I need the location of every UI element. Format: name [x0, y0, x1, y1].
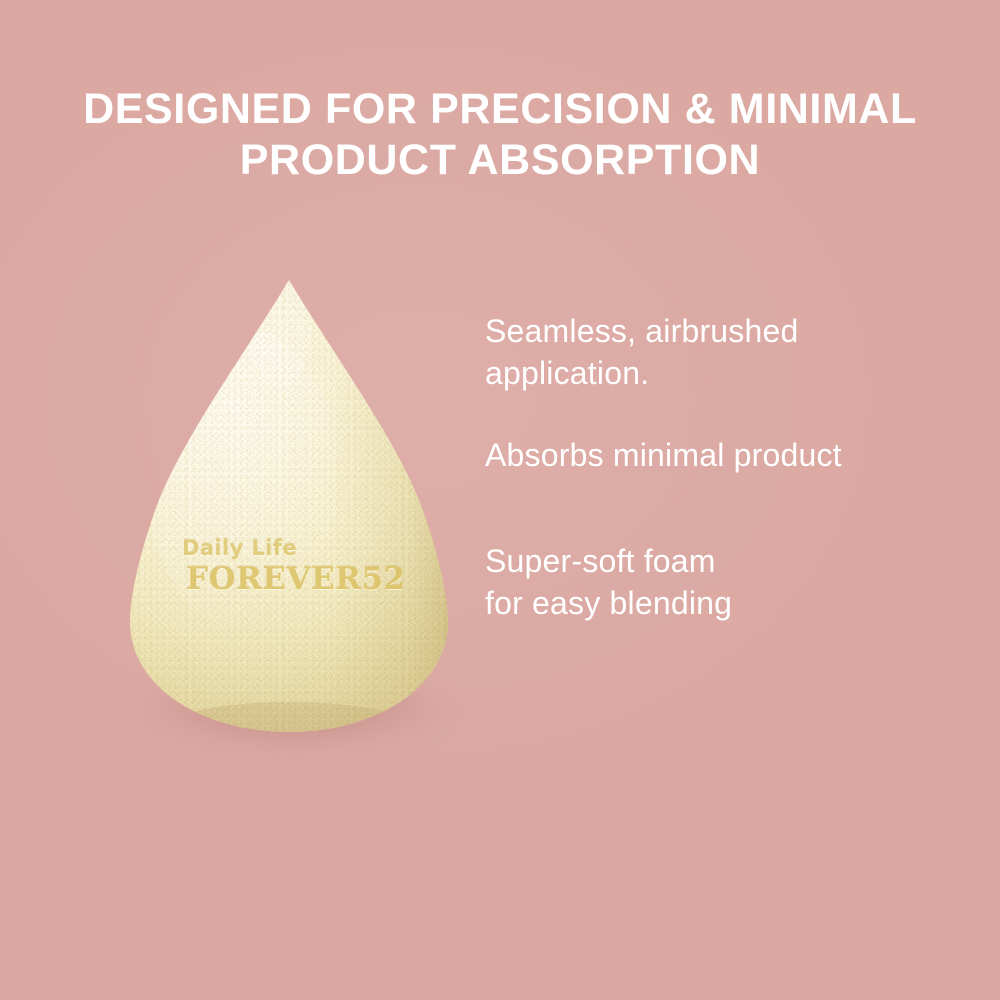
benefit-absorption: Absorbs minimal product: [485, 434, 985, 476]
benefit-seamless: Seamless, airbrushed application.: [485, 310, 985, 394]
product-feature-graphic: DESIGNED FOR PRECISION & MINIMAL PRODUCT…: [0, 0, 1000, 1000]
page-title: DESIGNED FOR PRECISION & MINIMAL PRODUCT…: [0, 84, 1000, 186]
benefit-foam: Super-soft foam for easy blending: [485, 540, 985, 624]
product-image: Daily Life FOREVER52: [130, 272, 460, 752]
benefits-list: Seamless, airbrushed application. Absorb…: [485, 310, 985, 624]
sponge-body: [130, 272, 448, 738]
